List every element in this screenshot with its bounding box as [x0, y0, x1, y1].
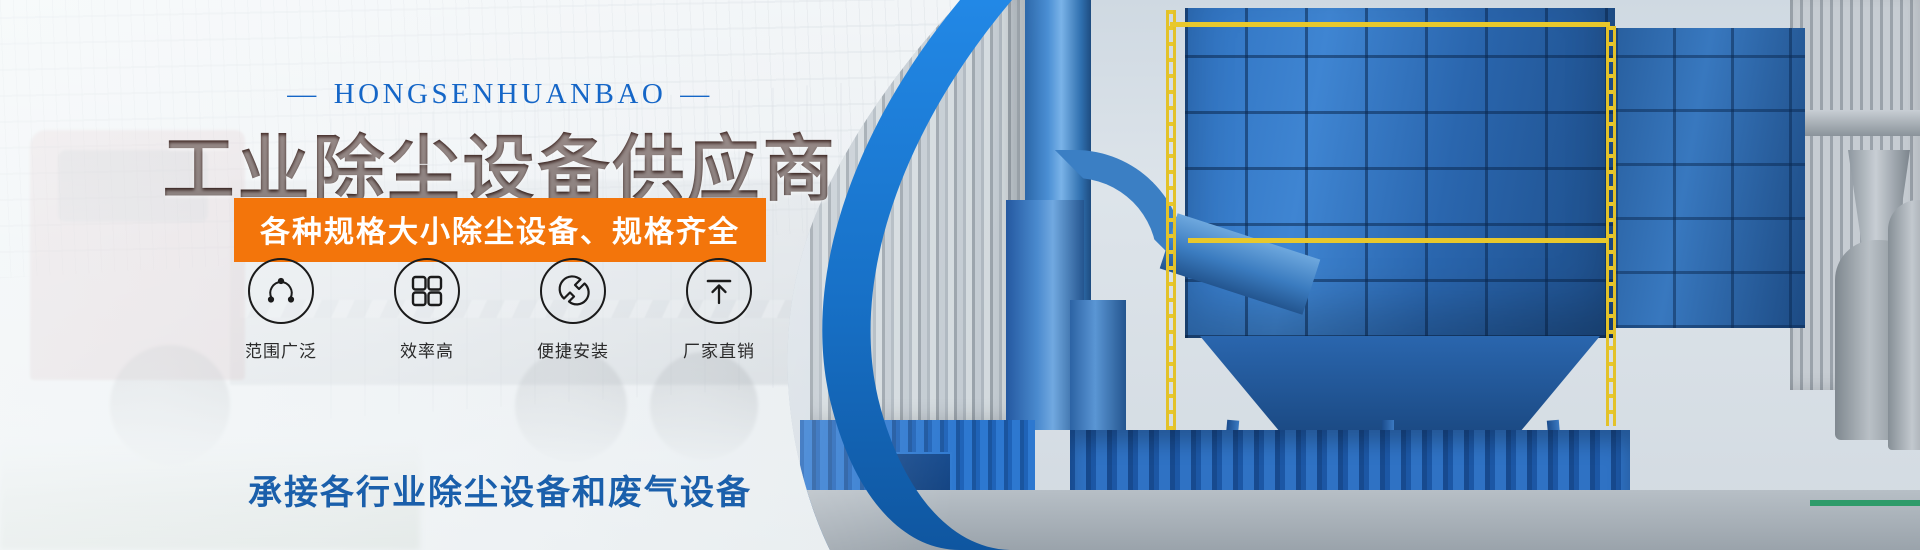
- subtitle-bar-wrap: 各种规格大小除尘设备、规格齐全: [0, 198, 1000, 262]
- banner-tagline: 承接各行业除尘设备和废气设备: [0, 465, 1000, 514]
- feature-item-efficiency[interactable]: 效率高: [383, 258, 471, 362]
- feature-label: 厂家直销: [675, 337, 763, 362]
- feature-label: 便捷安装: [529, 337, 617, 362]
- eyebrow-line: —HONGSENHUANBAO—: [0, 78, 1000, 111]
- feature-item-install[interactable]: 便捷安装: [529, 258, 617, 362]
- feature-icon-circle: [394, 258, 460, 324]
- promo-banner: —HONGSENHUANBAO— 工业除尘设备供应商 各种规格大小除尘设备、规格…: [0, 0, 1920, 550]
- eyebrow-text: HONGSENHUANBAO: [334, 78, 667, 110]
- feature-icon-circle: [686, 258, 752, 324]
- feature-item-factory-direct[interactable]: 厂家直销: [675, 258, 763, 362]
- feature-list: 范围广泛 效率高: [0, 258, 1000, 362]
- banner-content: —HONGSENHUANBAO— 工业除尘设备供应商 各种规格大小除尘设备、规格…: [0, 0, 1150, 550]
- eyebrow-dash-right: —: [666, 78, 727, 111]
- feature-item-range[interactable]: 范围广泛: [237, 258, 325, 362]
- subtitle-bar: 各种规格大小除尘设备、规格齐全: [234, 198, 766, 262]
- eyebrow-dash-left: —: [273, 78, 334, 111]
- feature-label: 效率高: [383, 337, 471, 362]
- feature-label: 范围广泛: [237, 337, 325, 362]
- grid-squares-icon: [408, 272, 446, 310]
- upload-arrow-icon: [700, 272, 738, 310]
- feature-icon-circle: [540, 258, 606, 324]
- feature-icon-circle: [248, 258, 314, 324]
- wrench-icon: [553, 271, 593, 311]
- network-nodes-icon: [261, 271, 301, 311]
